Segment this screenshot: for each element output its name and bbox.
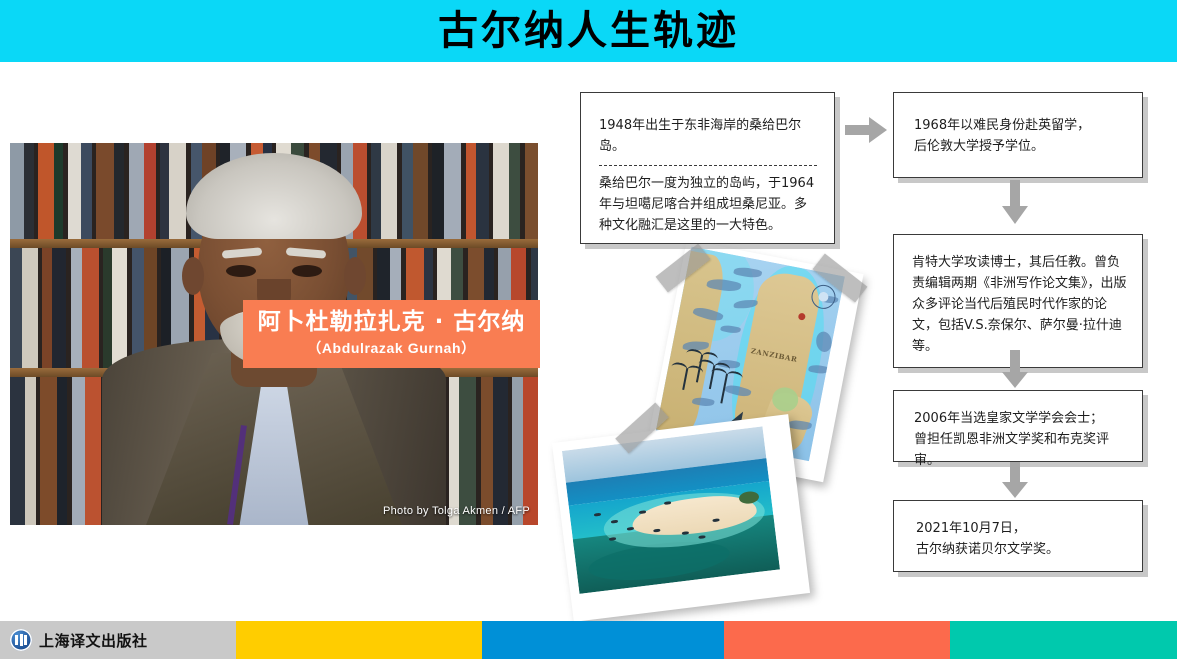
footer-color-block-coral	[724, 621, 950, 659]
flow-box-2: 1968年以难民身份赴英留学， 后伦敦大学授予学位。	[893, 92, 1143, 178]
flow-box-2-text: 1968年以难民身份赴英留学， 后伦敦大学授予学位。	[914, 115, 1126, 157]
flow-box-1-line2: 桑给巴尔一度为独立的岛屿，于1964年与坦噶尼喀合并组成坦桑尼亚。多种文化融汇是…	[599, 173, 818, 236]
photo-credit: Photo by Tolga Akmen / AFP	[383, 505, 530, 517]
arrow-down-icon	[1002, 350, 1028, 388]
title-band: 古尔纳人生轨迹	[0, 0, 1177, 62]
flow-box-3-text: 肯特大学攻读博士，其后任教。曾负责编辑两期《非洲写作论文集》，出版众多评论当代后…	[912, 252, 1128, 357]
dashed-divider	[599, 165, 817, 166]
ear-left	[182, 257, 204, 295]
footer-color-block-teal	[950, 621, 1177, 659]
footer-bar: 上海译文出版社	[0, 621, 1177, 659]
nameplate-chinese: 阿卜杜勒拉扎克 · 古尔纳	[258, 310, 526, 334]
footer-color-block-yellow	[236, 621, 482, 659]
nameplate: 阿卜杜勒拉扎克 · 古尔纳 （Abdulrazak Gurnah）	[243, 300, 540, 368]
flow-box-1: 1948年出生于东非海岸的桑给巴尔岛。 桑给巴尔一度为独立的岛屿，于1964年与…	[580, 92, 835, 244]
photo-collage: ZANZIBAR	[555, 250, 865, 605]
page-title: 古尔纳人生轨迹	[0, 0, 1177, 62]
flow-box-5: 2021年10月7日， 古尔纳获诺贝尔文学奖。	[893, 500, 1143, 572]
flow-box-1-line1: 1948年出生于东非海岸的桑给巴尔岛。	[599, 115, 818, 157]
arrow-right-icon	[845, 117, 887, 143]
beach-image	[562, 426, 780, 594]
eye-left	[226, 265, 256, 277]
zanzibar-beach-photo	[552, 414, 810, 622]
footer-color-block-blue	[482, 621, 724, 659]
eye-right	[292, 265, 322, 277]
nameplate-english: （Abdulrazak Gurnah）	[307, 338, 476, 358]
arrow-down-icon	[1002, 180, 1028, 224]
flow-box-5-text: 2021年10月7日， 古尔纳获诺贝尔文学奖。	[916, 518, 1128, 560]
ear-right	[344, 257, 366, 295]
publisher-logo-area: 上海译文出版社	[0, 621, 236, 659]
publisher-emblem-icon	[10, 629, 32, 651]
publisher-name: 上海译文出版社	[39, 630, 148, 651]
flow-box-4: 2006年当选皇家文学学会会士； 曾担任凯恩非洲文学奖和布克奖评审。	[893, 390, 1143, 462]
flow-box-3: 肯特大学攻读博士，其后任教。曾负责编辑两期《非洲写作论文集》，出版众多评论当代后…	[893, 234, 1143, 368]
arrow-down-icon	[1002, 462, 1028, 498]
